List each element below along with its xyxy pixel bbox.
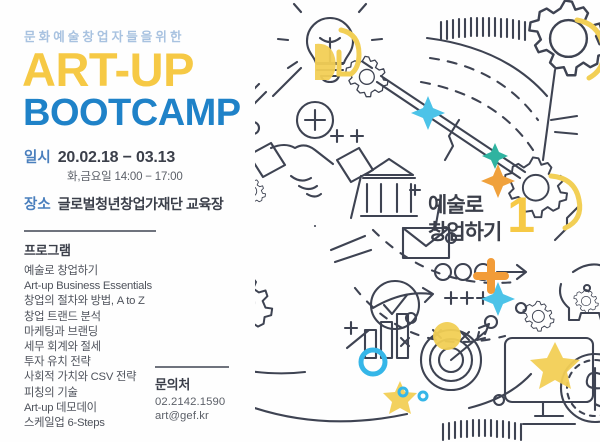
list-item: 스케일업 6-Steps (24, 416, 270, 431)
list-item: 창업의 절차와 방법, A to Z (24, 294, 270, 309)
text-column: 문화예술창업자들을위한 ART-UP BOOTCAMP 일시 20.02.18 … (0, 0, 270, 442)
date-label: 일시 (24, 146, 51, 167)
list-item: Art-up Business Essentials (24, 279, 270, 294)
poster-canvas: 문화예술창업자들을위한 ART-UP BOOTCAMP 일시 20.02.18 … (0, 0, 600, 442)
date-row: 일시 20.02.18 − 03.13 (24, 146, 270, 167)
place-row: 장소 글로벌청년창업가재단 교육장 (24, 193, 270, 214)
list-item: 투자 유치 전략 (24, 355, 270, 370)
place-label: 장소 (24, 193, 51, 214)
place-value: 글로벌청년창업가재단 교육장 (58, 194, 224, 214)
contact-divider (155, 366, 229, 368)
list-item: 창업 트랜드 분석 (24, 310, 270, 325)
contact-block: 문의처 02.2142.1590 art@gef.kr (155, 366, 229, 424)
event-info: 일시 20.02.18 − 03.13 화,금요일 14:00 − 17:00 … (24, 146, 270, 214)
list-item: 예술로 창업하기 (24, 264, 270, 279)
contact-heading: 문의처 (155, 374, 229, 393)
right-headline-number: 1 (507, 191, 535, 239)
list-item: Art-up 데모데이 (24, 401, 270, 416)
program-list: 예술로 창업하기 Art-up Business Essentials 창업의 … (24, 264, 270, 431)
program-divider (24, 230, 156, 232)
right-headline: 예술로 창업하기 1 (428, 193, 535, 245)
contact-phone: 02.2142.1590 (155, 395, 229, 410)
program-heading: 프로그램 (24, 240, 270, 259)
list-item: 피칭의 기술 (24, 386, 270, 401)
right-headline-line2: 창업하기 (428, 220, 501, 245)
list-item: 마케팅과 브랜딩 (24, 325, 270, 340)
right-headline-lines: 예술로 창업하기 (428, 193, 501, 245)
right-headline-line1: 예술로 (428, 193, 501, 218)
poster-title-line2: BOOTCAMP (23, 94, 270, 133)
date-value: 20.02.18 − 03.13 (58, 149, 175, 167)
contact-email: art@gef.kr (155, 409, 229, 424)
poster-title-line1: ART-UP (22, 48, 270, 93)
date-sub: 화,금요일 14:00 − 17:00 (67, 168, 270, 184)
list-item: 사회적 가치와 CSV 전략 (24, 370, 270, 385)
list-item: 세무 회계와 절세 (24, 340, 270, 355)
